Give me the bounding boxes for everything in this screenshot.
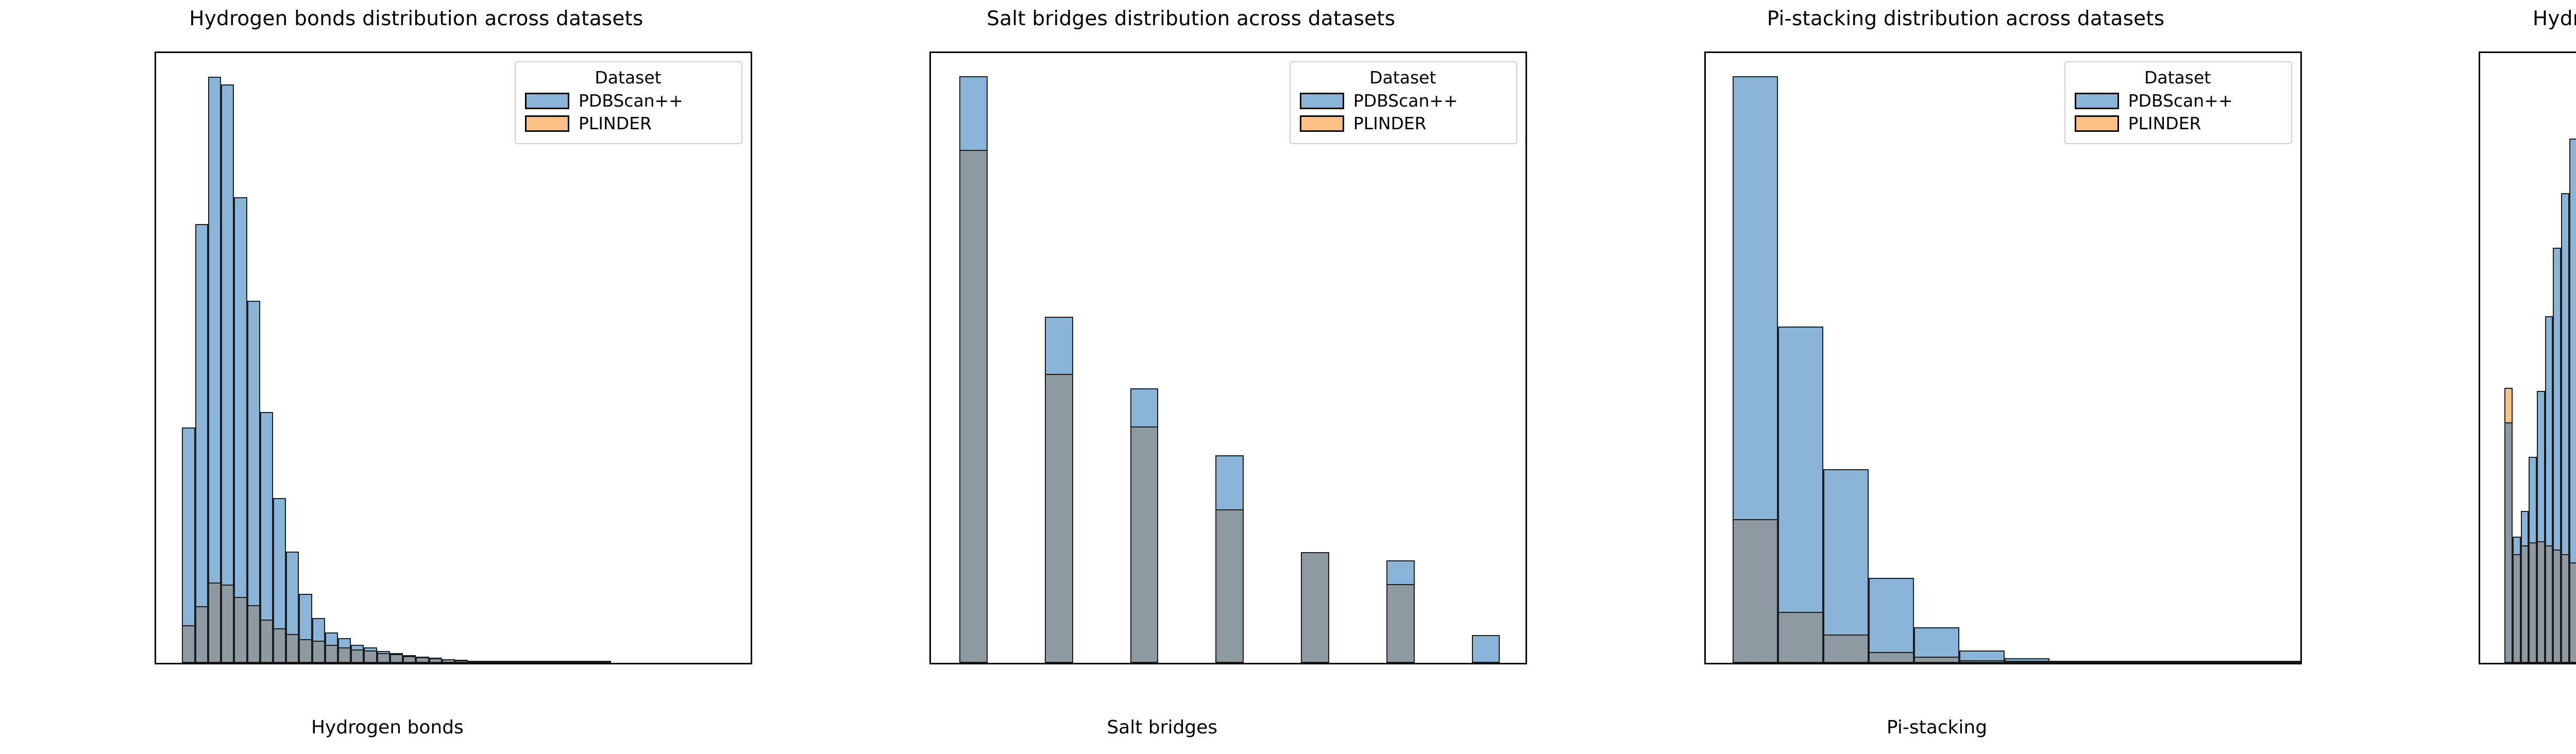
histogram-bar-overlap	[2553, 550, 2561, 663]
y-tick-label: 60000	[1704, 214, 1706, 235]
x-tick-label: 3	[1224, 663, 1235, 664]
y-tick-mark	[1704, 243, 1706, 244]
plot-axes: 1001011021031041050123456Number of Uniqu…	[929, 52, 1527, 664]
x-tick-mark	[1823, 663, 1824, 664]
y-tick-label: 5000	[155, 536, 156, 557]
y-minor-tick-mark	[929, 462, 931, 464]
histogram-bar-overlap	[1215, 509, 1244, 663]
y-minor-tick-mark	[929, 230, 931, 231]
x-axis-label: Hydrogen bonds	[0, 717, 775, 738]
legend-label-pdbscan: PDBScan++	[2128, 91, 2233, 111]
histogram-bar-overlap	[1130, 426, 1159, 663]
histogram-bar-overlap	[559, 661, 572, 663]
histogram-bar-overlap	[2545, 545, 2553, 663]
x-tick-label: 10	[2174, 663, 2196, 664]
y-tick-label: 80000	[1704, 75, 1706, 95]
x-tick-mark	[1732, 663, 1734, 664]
histogram-bar-overlap	[2005, 661, 2050, 663]
legend-swatch-plinder	[1300, 115, 1344, 132]
y-tick-label: 15000	[155, 345, 156, 365]
x-tick-label: 6	[1999, 663, 2010, 664]
histogram-bar-overlap	[468, 661, 481, 663]
histogram-bar-overlap	[959, 150, 988, 663]
x-tick-label: 20	[431, 663, 453, 664]
panel-title: Hydrophobic distribution across datasets	[2324, 7, 2576, 30]
y-tick-mark	[2479, 202, 2480, 204]
y-minor-tick-mark	[929, 424, 931, 426]
histogram-bar-overlap	[520, 661, 533, 663]
y-minor-tick-mark	[929, 323, 931, 324]
x-tick-mark	[1400, 663, 1401, 664]
histogram-bar-overlap	[2276, 661, 2302, 663]
legend-item-pdbscan[interactable]: PDBScan++	[2075, 91, 2281, 111]
x-tick-label: 6	[1480, 663, 1492, 664]
y-tick-label: 104	[929, 176, 931, 197]
x-tick-mark	[2275, 663, 2277, 664]
y-tick-mark	[1704, 452, 1706, 453]
x-tick-label: 30	[561, 663, 583, 664]
legend: DatasetPDBScan++PLINDER	[1290, 61, 1517, 144]
histogram-bar-overlap	[403, 656, 416, 663]
legend-item-plinder[interactable]: PLINDER	[525, 113, 731, 133]
y-tick-mark	[155, 278, 156, 279]
y-minor-tick-mark	[929, 329, 931, 331]
y-tick-mark	[2479, 432, 2480, 433]
histogram-bar-overlap	[416, 657, 429, 663]
histogram-bar-overlap	[546, 661, 559, 663]
y-tick-label: 4000	[2479, 403, 2480, 423]
chart-panel-1: Hydrogen bonds distribution across datas…	[0, 0, 775, 754]
y-tick-label: 6000	[2479, 288, 2480, 309]
histogram-bar-overlap	[286, 634, 299, 663]
histogram-bar-overlap	[2513, 554, 2521, 663]
panel-title: Pi-stacking distribution across datasets	[1550, 7, 2325, 30]
y-minor-tick-mark	[929, 211, 931, 212]
chart-panel-4: Hydrophobic distribution across datasets…	[2324, 0, 2576, 754]
y-tick-label: 10000	[2479, 59, 2480, 80]
legend-label-pdbscan: PDBScan++	[1353, 91, 1458, 111]
x-tick-mark	[1229, 663, 1230, 664]
histogram-bar-overlap	[572, 661, 585, 663]
y-minor-tick-mark	[929, 558, 931, 560]
y-minor-tick-mark	[929, 537, 931, 538]
y-minor-tick-mark	[929, 369, 931, 370]
histogram-bar-overlap	[208, 582, 221, 663]
histogram-bar-overlap	[1959, 660, 2005, 663]
histogram-bar-overlap	[273, 628, 286, 663]
histogram-bar-overlap	[1914, 657, 1959, 663]
y-minor-tick-mark	[929, 318, 931, 319]
x-tick-label: 8	[2090, 663, 2101, 664]
y-tick-mark	[1704, 591, 1706, 592]
legend-swatch-pdbscan	[1300, 93, 1344, 109]
x-tick-mark	[1485, 663, 1486, 664]
y-tick-mark	[2479, 317, 2480, 318]
y-tick-mark	[1704, 173, 1706, 175]
histogram-bar-overlap	[299, 639, 312, 663]
x-tick-label: 0	[968, 663, 979, 664]
chart-panel-2: Salt bridges distribution across dataset…	[775, 0, 1550, 754]
x-tick-label: 10	[301, 663, 323, 664]
histogram-bar-overlap	[481, 661, 494, 663]
y-minor-tick-mark	[929, 355, 931, 357]
y-minor-tick-mark	[929, 531, 931, 533]
x-tick-mark	[2094, 663, 2096, 664]
x-tick-mark	[2185, 663, 2187, 664]
plot-axes: 0200040006000800010000010203040506070Num…	[2479, 52, 2576, 664]
x-tick-label: 4	[1908, 663, 1920, 664]
y-tick-label: 40000	[1704, 353, 1706, 374]
histogram-bar-overlap	[351, 649, 364, 663]
legend-item-plinder[interactable]: PLINDER	[2075, 113, 2281, 133]
y-tick-label: 25000	[155, 153, 156, 174]
legend: DatasetPDBScan++PLINDER	[515, 61, 742, 144]
legend-swatch-pdbscan	[2075, 93, 2119, 109]
legend-title: Dataset	[1300, 67, 1506, 88]
panel-title: Hydrogen bonds distribution across datas…	[0, 7, 775, 30]
histogram-bar-overlap	[1733, 519, 1778, 663]
y-tick-label: 10000	[1704, 562, 1706, 583]
histogram-bar-overlap	[2095, 661, 2140, 663]
x-tick-label: 10	[2574, 663, 2576, 664]
legend-item-pdbscan[interactable]: PDBScan++	[525, 91, 731, 111]
x-tick-label: 5	[1395, 663, 1406, 664]
x-tick-mark	[1058, 663, 1060, 664]
histogram-bar-overlap	[1778, 612, 1823, 663]
y-tick-label: 103	[929, 283, 931, 304]
y-tick-mark	[1704, 104, 1706, 105]
y-tick-mark	[929, 419, 931, 421]
histogram-bar-overlap	[338, 647, 351, 663]
x-tick-mark	[441, 663, 443, 664]
x-tick-label: 0	[1727, 663, 1738, 664]
y-tick-label: 0	[155, 632, 156, 653]
y-tick-label: 50000	[1704, 284, 1706, 304]
histogram-bar	[221, 84, 234, 663]
histogram-bar	[1869, 578, 1914, 663]
histogram-bar-overlap	[325, 645, 338, 663]
y-tick-label: 101	[929, 496, 931, 518]
plot-area	[156, 53, 751, 663]
figure-panel-row: Hydrogen bonds distribution across datas…	[0, 0, 2576, 754]
y-tick-mark	[1704, 382, 1706, 384]
x-tick-label: 2	[1818, 663, 1829, 664]
y-minor-tick-mark	[929, 109, 931, 111]
x-tick-label: 0	[2499, 663, 2511, 664]
histogram-bar	[234, 197, 247, 663]
x-tick-mark	[1314, 663, 1316, 664]
legend-label-plinder: PLINDER	[2128, 113, 2201, 133]
y-minor-tick-mark	[929, 131, 931, 133]
y-tick-mark	[1704, 521, 1706, 523]
histogram-bar-overlap	[2569, 562, 2576, 663]
x-tick-label: 4	[1310, 663, 1321, 664]
histogram-bar-overlap	[442, 659, 455, 663]
y-minor-tick-mark	[929, 601, 931, 603]
y-minor-tick-mark	[929, 345, 931, 347]
y-minor-tick-mark	[929, 67, 931, 68]
histogram-bar-overlap	[2231, 661, 2276, 663]
y-minor-tick-mark	[929, 248, 931, 250]
histogram-bar-overlap	[2561, 554, 2569, 663]
histogram-bar-overlap	[312, 641, 325, 663]
histogram-bar-overlap	[1869, 652, 1914, 663]
chart-panel-3: Pi-stacking distribution across datasets…	[1550, 0, 2325, 754]
legend: DatasetPDBScan++PLINDER	[2064, 61, 2292, 144]
histogram-bar-overlap	[377, 653, 390, 663]
y-minor-tick-mark	[929, 142, 931, 143]
y-minor-tick-mark	[929, 452, 931, 453]
plot-area	[2480, 53, 2576, 663]
legend-swatch-plinder	[525, 115, 569, 132]
histogram-bar-overlap	[182, 625, 195, 663]
histogram-bar	[195, 224, 208, 663]
y-minor-tick-mark	[929, 569, 931, 571]
y-tick-mark	[155, 469, 156, 471]
x-tick-mark	[2504, 663, 2505, 664]
legend-title: Dataset	[525, 67, 731, 88]
y-minor-tick-mark	[929, 475, 931, 477]
histogram-bar-overlap	[1386, 584, 1415, 663]
y-minor-tick-mark	[929, 174, 931, 175]
y-minor-tick-mark	[929, 494, 931, 496]
histogram-bar-overlap	[598, 661, 611, 663]
x-axis-label: Pi-stacking	[1550, 717, 2325, 738]
y-minor-tick-mark	[929, 543, 931, 544]
legend-label-pdbscan: PDBScan++	[579, 91, 683, 111]
y-tick-mark	[929, 98, 931, 100]
histogram-bar-overlap	[507, 661, 520, 663]
legend-swatch-pdbscan	[525, 93, 569, 109]
histogram-bar-overlap	[533, 661, 546, 663]
y-tick-mark	[2479, 88, 2480, 89]
histogram-bar-overlap	[1301, 552, 1329, 663]
histogram-bar-overlap	[195, 606, 208, 663]
y-tick-mark	[929, 312, 931, 314]
y-tick-mark	[155, 565, 156, 567]
y-tick-mark	[2479, 546, 2480, 547]
y-tick-mark	[2479, 661, 2480, 662]
histogram-bar-overlap	[221, 585, 234, 663]
y-tick-mark	[929, 633, 931, 635]
x-tick-label: 40	[690, 663, 713, 664]
y-tick-mark	[1704, 661, 1706, 662]
x-tick-label: 2	[1139, 663, 1150, 664]
y-minor-tick-mark	[929, 216, 931, 218]
y-tick-label: 0	[2479, 632, 2480, 653]
y-tick-label: 30000	[1704, 423, 1706, 443]
histogram-bar-overlap	[2537, 541, 2545, 663]
x-tick-mark	[1913, 663, 1914, 664]
y-minor-tick-mark	[929, 222, 931, 224]
y-tick-mark	[155, 182, 156, 183]
y-minor-tick-mark	[929, 281, 931, 282]
y-tick-label: 100	[929, 603, 931, 624]
histogram-bar-overlap	[2140, 661, 2185, 663]
histogram-bar-overlap	[1823, 635, 1869, 663]
legend-label-plinder: PLINDER	[579, 113, 652, 133]
histogram-bar-overlap	[2185, 661, 2231, 663]
histogram-bar	[1472, 635, 1500, 663]
y-tick-label: 2000	[2479, 518, 2480, 538]
legend-swatch-plinder	[2075, 115, 2119, 132]
y-minor-tick-mark	[929, 443, 931, 445]
y-minor-tick-mark	[929, 155, 931, 157]
legend-title: Dataset	[2075, 67, 2281, 88]
histogram-bar	[208, 77, 221, 663]
histogram-bar-overlap	[494, 661, 507, 663]
y-tick-label: 70000	[1704, 144, 1706, 165]
histogram-bar-overlap	[247, 605, 260, 663]
y-minor-tick-mark	[929, 238, 931, 239]
y-minor-tick-mark	[929, 430, 931, 432]
histogram-bar-overlap	[2504, 422, 2513, 663]
y-tick-label: 0	[1704, 632, 1706, 653]
y-tick-label: 105	[929, 69, 931, 90]
y-minor-tick-mark	[929, 387, 931, 389]
legend-item-plinder[interactable]: PLINDER	[1300, 113, 1506, 133]
x-tick-mark	[181, 663, 183, 664]
histogram-bar-overlap	[2521, 545, 2529, 663]
x-tick-label: 0	[177, 663, 188, 664]
plot-axes: 050001000015000200002500030000010203040N…	[155, 52, 752, 664]
plot-axes: 0100002000030000400005000060000700008000…	[1704, 52, 2302, 664]
x-axis-label: Salt bridges	[775, 717, 1550, 738]
y-tick-label: 20000	[1704, 493, 1706, 513]
y-minor-tick-mark	[929, 436, 931, 438]
x-tick-mark	[1144, 663, 1145, 664]
histogram-bar-overlap	[234, 597, 247, 663]
histogram-bar-overlap	[1045, 374, 1073, 663]
legend-label-plinder: PLINDER	[1353, 113, 1427, 133]
x-tick-label: 12	[2265, 663, 2287, 664]
y-tick-mark	[155, 661, 156, 662]
histogram-bar-overlap	[2049, 661, 2095, 663]
panel-title: Salt bridges distribution across dataset…	[775, 7, 1550, 30]
y-tick-label: 10000	[155, 440, 156, 461]
histogram-bar-overlap	[2529, 542, 2537, 663]
y-minor-tick-mark	[929, 115, 931, 117]
y-minor-tick-mark	[929, 123, 931, 124]
y-tick-mark	[929, 205, 931, 207]
x-tick-mark	[973, 663, 974, 664]
x-tick-mark	[701, 663, 703, 664]
legend-item-pdbscan[interactable]: PDBScan++	[1300, 91, 1506, 111]
plot-area	[931, 53, 1526, 663]
y-tick-label: 20000	[155, 249, 156, 269]
y-tick-mark	[1704, 312, 1706, 314]
x-tick-mark	[571, 663, 572, 664]
x-tick-label: 1	[1054, 663, 1065, 664]
y-tick-mark	[155, 373, 156, 375]
histogram-bar-overlap	[364, 650, 377, 663]
y-minor-tick-mark	[929, 582, 931, 584]
y-tick-label: 30000	[155, 57, 156, 78]
histogram-bar-overlap	[429, 658, 442, 663]
y-minor-tick-mark	[929, 262, 931, 263]
y-tick-label: 8000	[2479, 174, 2480, 194]
histogram-bar-overlap	[585, 661, 598, 663]
histogram-bar-overlap	[455, 660, 468, 663]
y-tick-mark	[929, 526, 931, 527]
histogram-bar-overlap	[390, 654, 403, 663]
plot-area	[1706, 53, 2300, 663]
y-tick-mark	[155, 86, 156, 88]
y-tick-label: 102	[929, 389, 931, 410]
histogram-bar-overlap	[260, 620, 273, 663]
x-axis-label: Hydrophobic	[2324, 717, 2576, 738]
x-tick-mark	[311, 663, 313, 664]
x-tick-mark	[2004, 663, 2005, 664]
y-minor-tick-mark	[929, 336, 931, 338]
y-minor-tick-mark	[929, 104, 931, 106]
y-minor-tick-mark	[929, 550, 931, 552]
